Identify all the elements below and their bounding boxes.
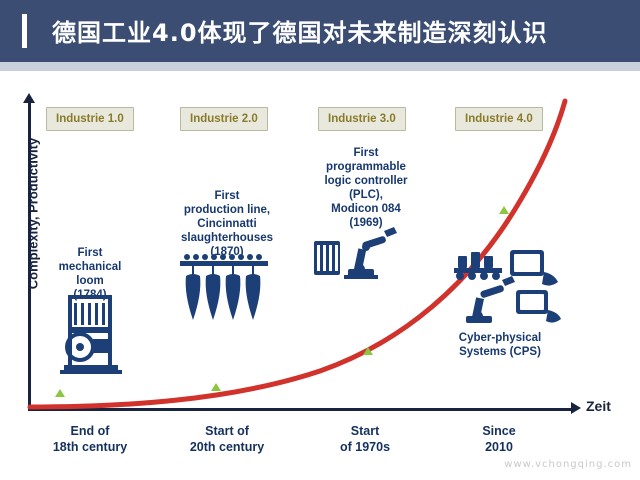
slide-body: Complexity, Productivity Zeit Industrie … — [0, 71, 640, 480]
era-description-2: First production line, Cincinnatti slaug… — [172, 189, 282, 259]
cyber-physical-system-icon — [452, 246, 562, 335]
x-caption-3: Start of 1970s — [308, 423, 422, 455]
x-caption-1: End of 18th century — [38, 423, 142, 455]
x-caption-2: Start of 20th century — [170, 423, 284, 455]
curve-marker-1-icon — [55, 389, 65, 397]
slide-header-bar: 德国工业4.0体现了德国对未来制造深刻认识 — [0, 0, 640, 62]
curve-marker-2-icon — [211, 383, 221, 391]
watermark-text: www.vchongqing.com — [504, 459, 632, 470]
x-caption-4: Since 2010 — [444, 423, 554, 455]
curve-marker-4-icon — [499, 206, 509, 214]
era-badge-industrie-3: Industrie 3.0 — [318, 107, 406, 131]
header-separator — [0, 62, 640, 71]
header-accent-mark — [22, 14, 27, 48]
era-description-4: Cyber-physical Systems (CPS) — [440, 331, 560, 359]
era-badge-industrie-2: Industrie 2.0 — [180, 107, 268, 131]
mechanical-loom-icon — [58, 289, 128, 386]
era-badge-industrie-4: Industrie 4.0 — [455, 107, 543, 131]
era-badge-industrie-1: Industrie 1.0 — [46, 107, 134, 131]
curve-marker-3-icon — [363, 347, 373, 355]
plc-robot-arm-icon — [314, 223, 400, 290]
assembly-line-icon — [178, 253, 270, 338]
page-title: 德国工业4.0体现了德国对未来制造深刻认识 — [52, 13, 548, 48]
era-description-3: First programmable logic controller (PLC… — [306, 146, 426, 230]
